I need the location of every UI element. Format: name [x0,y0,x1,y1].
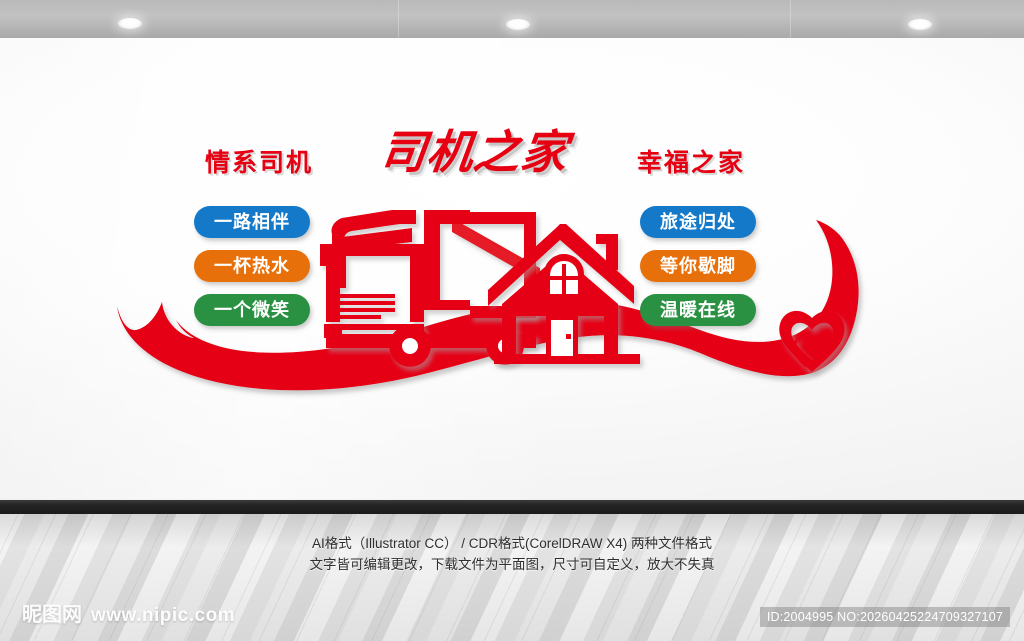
site-watermark: 昵图网 www.nipic.com [22,605,235,625]
watermark-domain: www.nipic.com [91,606,235,625]
caption-line-2: 文字皆可编辑更改，下载文件为平面图，尺寸可自定义，放大不失真 [0,554,1024,575]
asset-id-tag: ID:2004995 NO:20260425224709327107 [760,607,1010,627]
artwork-vectors [0,38,1024,500]
caption-line-1: AI格式（Illustrator CC） / CDR格式(CorelDRAW X… [0,533,1024,554]
pill-left-3: 一个微笑 [194,294,310,326]
pill-right-2: 等你歇脚 [640,250,756,282]
headline-title: 司机之家 [377,129,571,175]
watermark-brand: 昵图网 [22,605,82,625]
house-illustration [470,210,640,364]
kicker-right: 幸福之家 [637,151,745,176]
pill-right-1: 旅途归处 [640,206,756,238]
wall-artwork: 情系司机 司机之家 幸福之家 一路相伴 一杯热水 一个微笑 旅途归处 等你歇脚 … [0,38,1024,500]
downlight-icon [506,19,530,30]
kicker-left: 情系司机 [205,151,313,176]
baseboard [0,500,1024,514]
downlight-icon [908,19,932,30]
pill-left-1: 一路相伴 [194,206,310,238]
screenshot-root: 情系司机 司机之家 幸福之家 一路相伴 一杯热水 一个微笑 旅途归处 等你歇脚 … [0,0,1024,641]
pill-left-2: 一杯热水 [194,250,310,282]
downlight-icon [118,18,142,29]
pill-right-3: 温暖在线 [640,294,756,326]
ceiling-seam [398,0,399,38]
format-caption: AI格式（Illustrator CC） / CDR格式(CorelDRAW X… [0,533,1024,575]
ceiling-seam [790,0,791,38]
